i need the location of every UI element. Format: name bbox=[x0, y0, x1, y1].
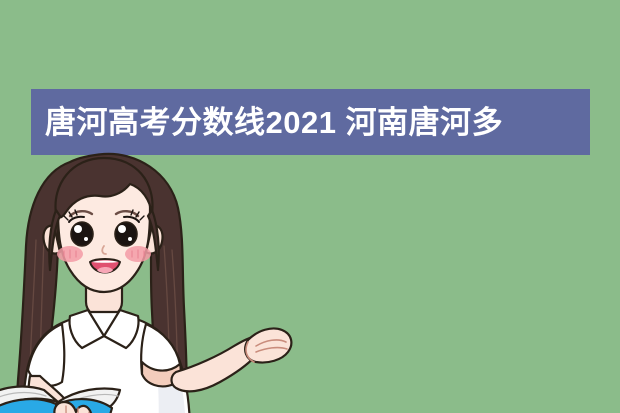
book-cover-left bbox=[0, 399, 58, 413]
page-title: 唐河高考分数线2021 河南唐河多 bbox=[45, 107, 503, 138]
girl-figure-svg bbox=[0, 150, 300, 413]
title-banner: 唐河高考分数线2021 河南唐河多 bbox=[31, 89, 590, 155]
cartoon-student-girl-illustration bbox=[0, 150, 300, 413]
screenshot-canvas: 唐河高考分数线2021 河南唐河多 bbox=[0, 0, 620, 413]
hand-right-open-palm bbox=[245, 328, 291, 362]
figure-group bbox=[0, 154, 291, 413]
